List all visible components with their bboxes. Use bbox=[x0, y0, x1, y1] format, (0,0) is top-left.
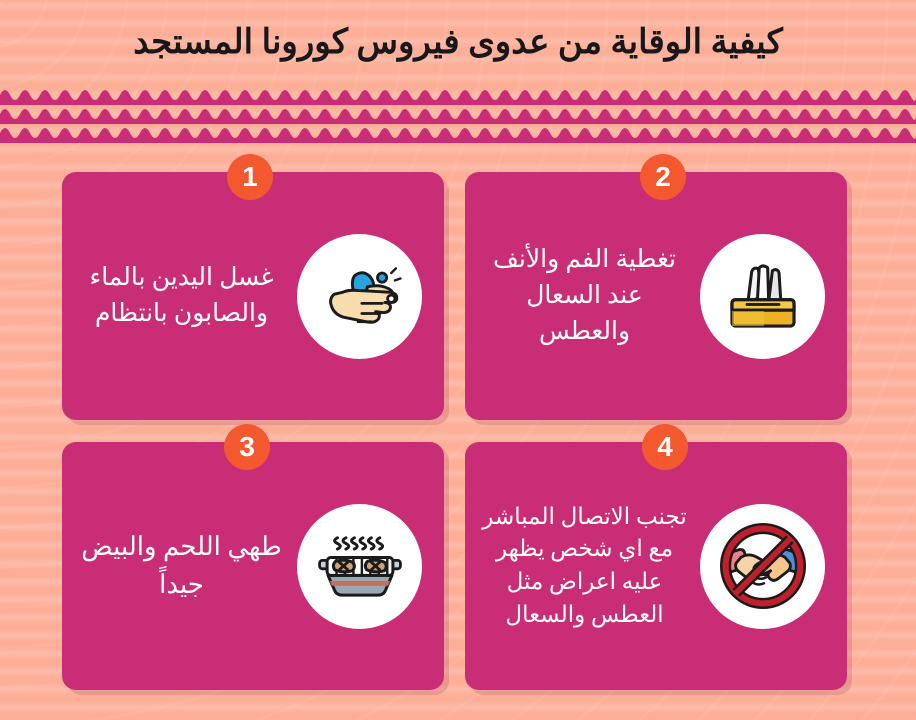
infographic-page: كيفية الوقاية من عدوى فيروس كورونا المست… bbox=[0, 0, 916, 720]
icon-medallion-2 bbox=[700, 234, 825, 359]
wave-row-3 bbox=[0, 124, 916, 143]
wave-row-2 bbox=[0, 105, 916, 124]
prevention-tips-grid: 1 غسل اليدين بالماء والصابون بانتظام bbox=[62, 172, 852, 690]
tip-text-1: غسل اليدين بالماء والصابون بانتظام bbox=[72, 260, 291, 333]
wave-divider bbox=[0, 86, 916, 142]
title-bar: كيفية الوقاية من عدوى فيروس كورونا المست… bbox=[0, 0, 916, 86]
grill-cooking-icon bbox=[313, 519, 407, 613]
step-number-badge-4: 4 bbox=[642, 424, 688, 470]
page-title: كيفية الوقاية من عدوى فيروس كورونا المست… bbox=[133, 23, 783, 62]
tip-card-1[interactable]: 1 غسل اليدين بالماء والصابون بانتظام bbox=[62, 172, 444, 420]
tip-card-4[interactable]: 4 تجنب الاتصال المباشر مع اي شخص يظهر عل… bbox=[465, 442, 847, 690]
step-number-badge-2: 2 bbox=[640, 154, 686, 200]
icon-medallion-1 bbox=[297, 234, 422, 359]
wave-row-1 bbox=[0, 86, 916, 105]
step-number-badge-3: 3 bbox=[224, 424, 270, 470]
tip-card-2[interactable]: 2 تغطية الفم والأنف عند السعال والعطس bbox=[465, 172, 847, 420]
no-handshake-icon bbox=[715, 518, 811, 614]
tip-card-3[interactable]: 3 طهي اللحم والبيض جيداً bbox=[62, 442, 444, 690]
tissue-box-icon bbox=[716, 249, 810, 343]
tip-text-4: تجنب الاتصال المباشر مع اي شخص يظهر عليه… bbox=[475, 501, 694, 632]
tip-text-2: تغطية الفم والأنف عند السعال والعطس bbox=[475, 242, 694, 351]
icon-medallion-4 bbox=[700, 504, 825, 629]
handwashing-icon bbox=[314, 250, 406, 342]
icon-medallion-3 bbox=[297, 504, 422, 629]
step-number-badge-1: 1 bbox=[227, 154, 273, 200]
tip-text-3: طهي اللحم والبيض جيداً bbox=[72, 528, 291, 603]
